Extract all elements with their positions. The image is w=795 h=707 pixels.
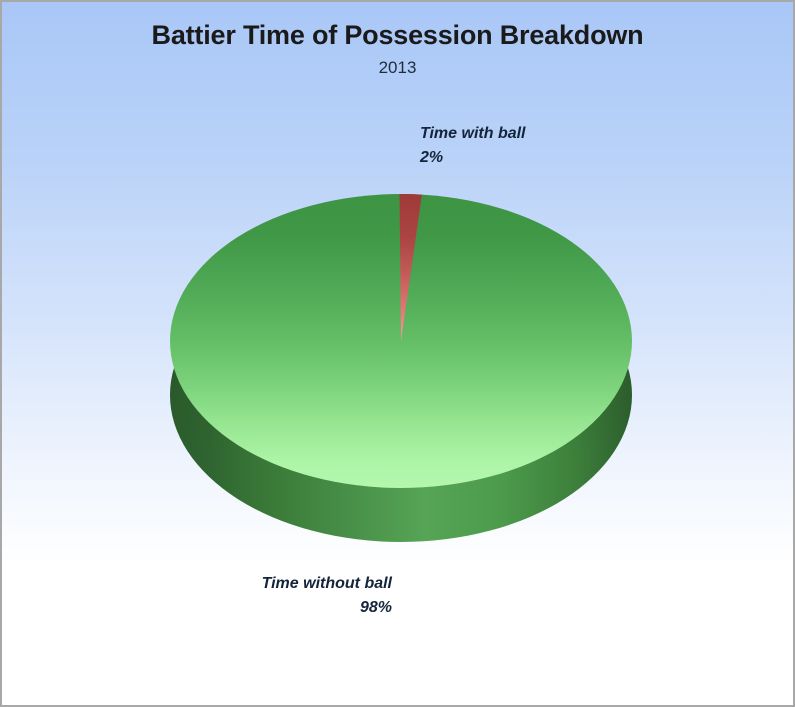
pie-label-time-without-ball: Time without ball 98% [210,572,392,620]
pie-slice-time-with-ball[interactable] [170,194,632,488]
pie-graphic [170,194,632,542]
pie-chart-figure: Battier Time of Possession Breakdown 201… [0,0,795,707]
title-block: Battier Time of Possession Breakdown 201… [2,18,793,81]
pie-label-with-ball-name: Time with ball [420,125,526,142]
pie-top-face [170,194,632,488]
pie-label-with-ball-percent: 2% [420,146,526,170]
pie-label-time-with-ball: Time with ball 2% [420,122,526,170]
pie-label-without-ball-name: Time without ball [262,575,392,592]
chart-title: Battier Time of Possession Breakdown [2,18,793,52]
chart-subtitle: 2013 [2,55,793,81]
pie-label-without-ball-percent: 98% [210,596,392,620]
